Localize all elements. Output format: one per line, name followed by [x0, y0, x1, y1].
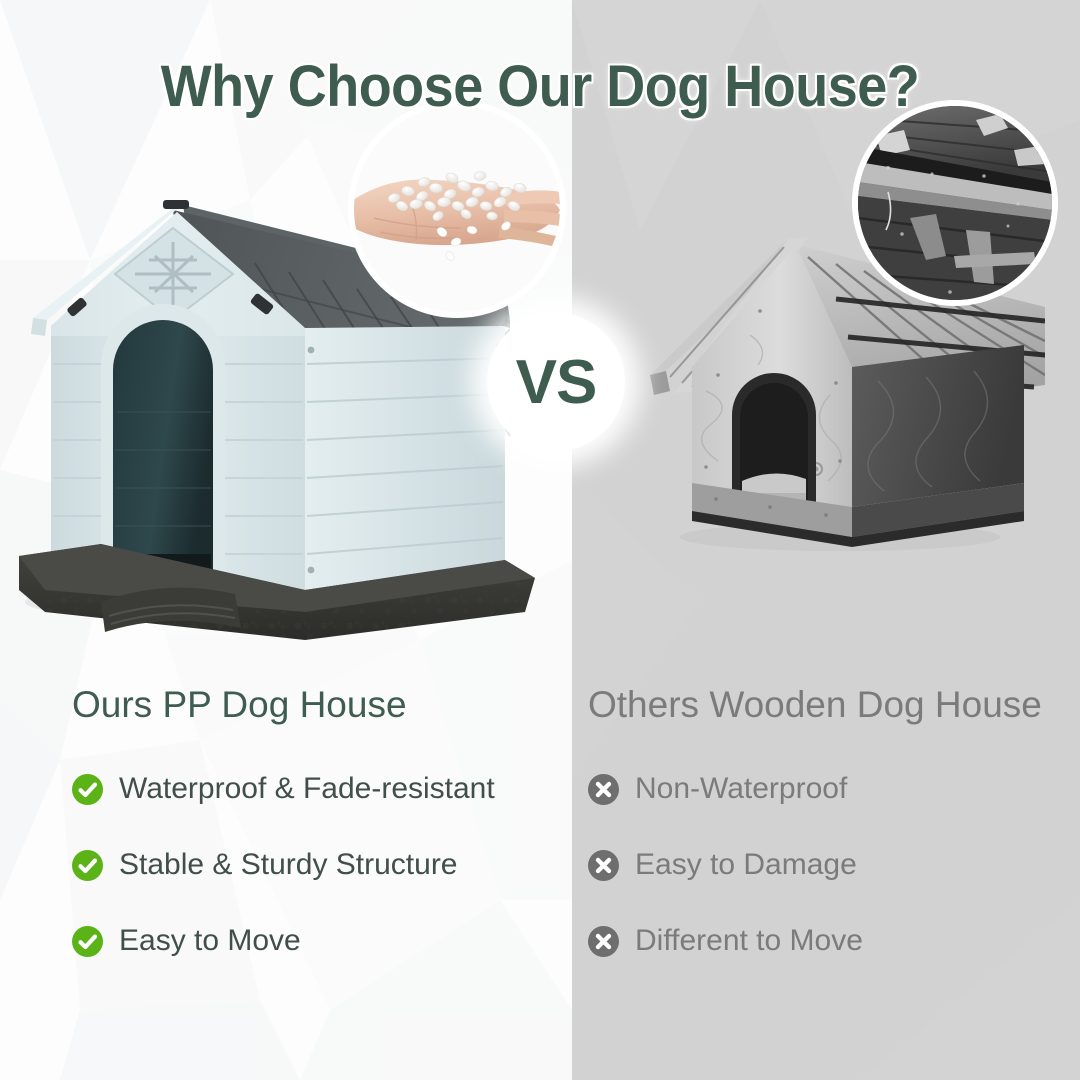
- feature-row: Stable & Sturdy Structure: [72, 848, 542, 882]
- pp-pellets-inset-circle: [348, 100, 566, 318]
- column-others: Others Wooden Dog House Non-Waterproof E…: [588, 684, 1058, 1000]
- vs-badge: VS: [487, 313, 625, 451]
- check-icon: [72, 774, 103, 805]
- rotten-wood-inset-circle: [852, 100, 1058, 306]
- page-title: Why Choose Our Dog House?: [38, 53, 1042, 120]
- column-ours-heading: Ours PP Dog House: [72, 684, 542, 726]
- feature-label: Waterproof & Fade-resistant: [119, 772, 495, 806]
- column-others-heading: Others Wooden Dog House: [588, 684, 1058, 726]
- column-ours: Ours PP Dog House Waterproof & Fade-resi…: [72, 684, 542, 1000]
- feature-label: Different to Move: [635, 924, 863, 958]
- feature-row: Different to Move: [588, 924, 1058, 958]
- cross-icon: [588, 774, 619, 805]
- infographic-canvas: VS Why Choose Our Dog House? Ours PP Dog…: [0, 0, 1080, 1080]
- vs-label: VS: [516, 347, 597, 418]
- feature-label: Stable & Sturdy Structure: [119, 848, 458, 882]
- feature-label: Non-Waterproof: [635, 772, 847, 806]
- cross-icon: [588, 926, 619, 957]
- feature-row: Waterproof & Fade-resistant: [72, 772, 542, 806]
- feature-label: Easy to Damage: [635, 848, 857, 882]
- check-icon: [72, 850, 103, 881]
- feature-row: Non-Waterproof: [588, 772, 1058, 806]
- feature-row: Easy to Move: [72, 924, 542, 958]
- cross-icon: [588, 850, 619, 881]
- feature-label: Easy to Move: [119, 924, 301, 958]
- feature-row: Easy to Damage: [588, 848, 1058, 882]
- check-icon: [72, 926, 103, 957]
